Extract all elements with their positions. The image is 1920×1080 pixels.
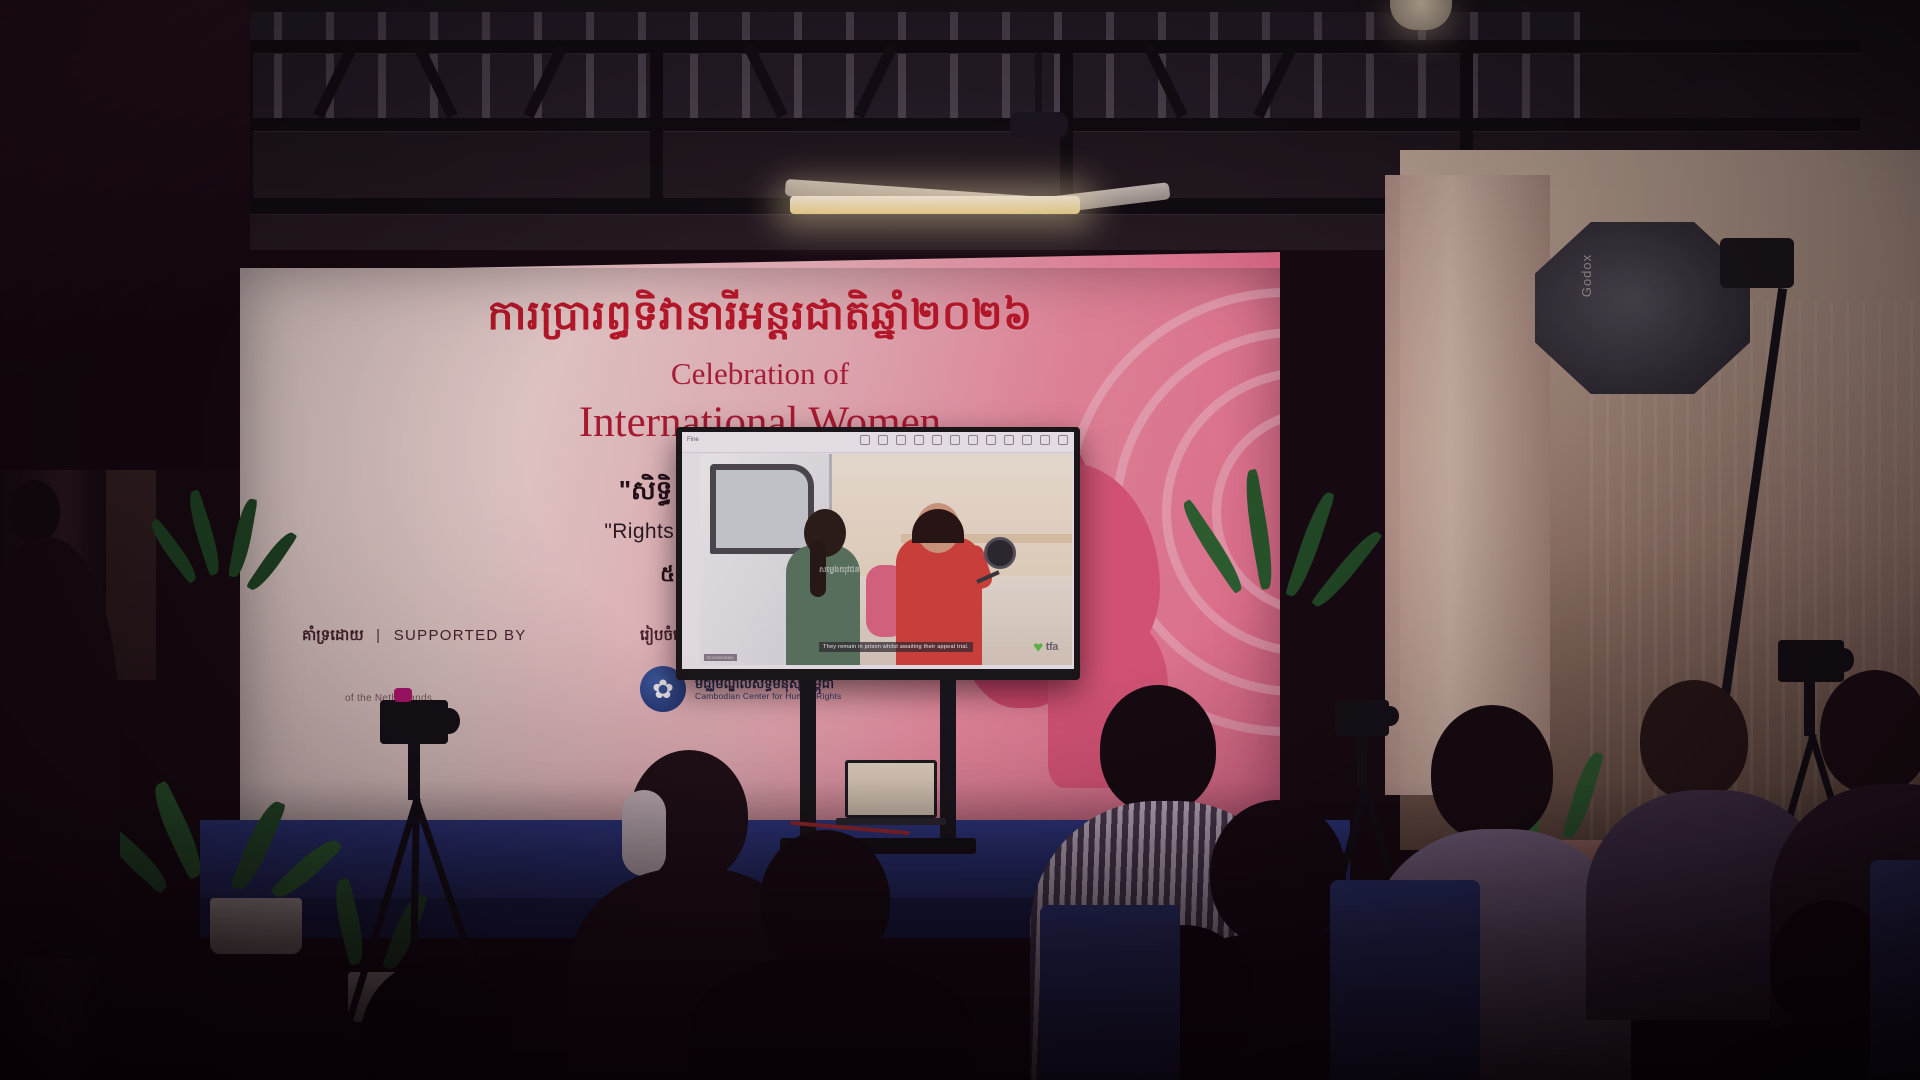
tripod-head — [1804, 682, 1815, 736]
paste-icon[interactable] — [896, 435, 906, 445]
camera-lens-icon — [1834, 648, 1854, 672]
video-frame[interactable]: សម្លេងយុវជន Documentary They remain in p… — [700, 454, 1072, 665]
video-watermark: សម្លេងយុវជន — [819, 564, 860, 576]
video-player-toolbar[interactable]: Fine — [682, 432, 1074, 453]
banner-celebration-line: Celebration of — [240, 356, 1280, 392]
tripod-head — [1357, 736, 1367, 786]
headset-icon — [622, 790, 666, 876]
camera-lens-icon — [1381, 706, 1399, 726]
roof-truss-beam — [60, 40, 1860, 53]
tripod-head — [408, 744, 420, 800]
undo-icon[interactable] — [914, 435, 924, 445]
ceiling-fan-motor — [1010, 112, 1068, 138]
tv-screen[interactable]: Fine — [682, 432, 1074, 669]
tfa-logo-text: tfa — [1046, 641, 1058, 653]
audience-chair[interactable] — [1870, 860, 1920, 1080]
crop-icon[interactable] — [950, 435, 960, 445]
heart-icon — [1034, 643, 1043, 652]
strobe-head — [1720, 238, 1794, 288]
laptop-keyboard-base — [836, 818, 946, 825]
trim-icon[interactable] — [968, 435, 978, 445]
laptop-screen[interactable] — [848, 763, 934, 815]
wall-mounted-tv[interactable]: Fine — [676, 427, 1080, 680]
roof-truss-beam — [60, 118, 1860, 131]
softbox-brand-label: Godox — [1579, 254, 1594, 297]
toolbar-icon-group[interactable] — [860, 435, 1068, 445]
supported-by-row: គាំទ្រដោយ | SUPPORTED BY — [302, 626, 527, 648]
volume-icon[interactable] — [1022, 435, 1032, 445]
laptop[interactable] — [845, 760, 937, 818]
tfa-brand-logo: tfa — [1034, 641, 1058, 653]
right-curtain — [1385, 175, 1550, 795]
play-icon[interactable] — [1004, 435, 1014, 445]
video-subtitle: They remain in prison whilst awaiting th… — [819, 642, 973, 652]
fluorescent-tube-light — [790, 196, 1080, 214]
supported-by-english: SUPPORTED BY — [394, 627, 527, 644]
cchr-logo-english: Cambodian Center for Human Rights — [695, 691, 841, 701]
camera-record-light — [394, 688, 412, 702]
copy-icon[interactable] — [878, 435, 888, 445]
netherlands-logo-text: of the Netherlands — [345, 693, 560, 704]
video-corner-tag: Documentary — [704, 654, 737, 661]
fullscreen-icon[interactable] — [1040, 435, 1050, 445]
microphone-icon — [984, 537, 1016, 569]
van-window — [710, 464, 814, 554]
dark-curtain — [0, 0, 250, 470]
redo-icon[interactable] — [932, 435, 942, 445]
settings-icon[interactable] — [1058, 435, 1068, 445]
audience-chair[interactable] — [1330, 880, 1480, 1080]
audience-chair[interactable] — [1040, 905, 1180, 1080]
cut-icon[interactable] — [860, 435, 870, 445]
toolbar-app-label: Fine — [687, 437, 699, 443]
ceiling-fan-rod — [1035, 52, 1042, 118]
event-photo-scene: ការប្រារព្ធទិវានារីអន្តរជាតិឆ្នាំ២០២៦ Ce… — [0, 0, 1920, 1080]
camera-lens-icon — [438, 708, 460, 734]
banner-khmer-title: ការប្រារព្ធទិវានារីអន្តរជាតិឆ្នាំ២០២៦ — [240, 290, 1280, 350]
split-icon[interactable] — [986, 435, 996, 445]
supported-by-khmer: គាំទ្រដោយ — [302, 627, 364, 644]
supported-by-divider: | — [376, 627, 381, 644]
softbox-light — [1535, 222, 1750, 394]
truss-post — [650, 40, 663, 200]
